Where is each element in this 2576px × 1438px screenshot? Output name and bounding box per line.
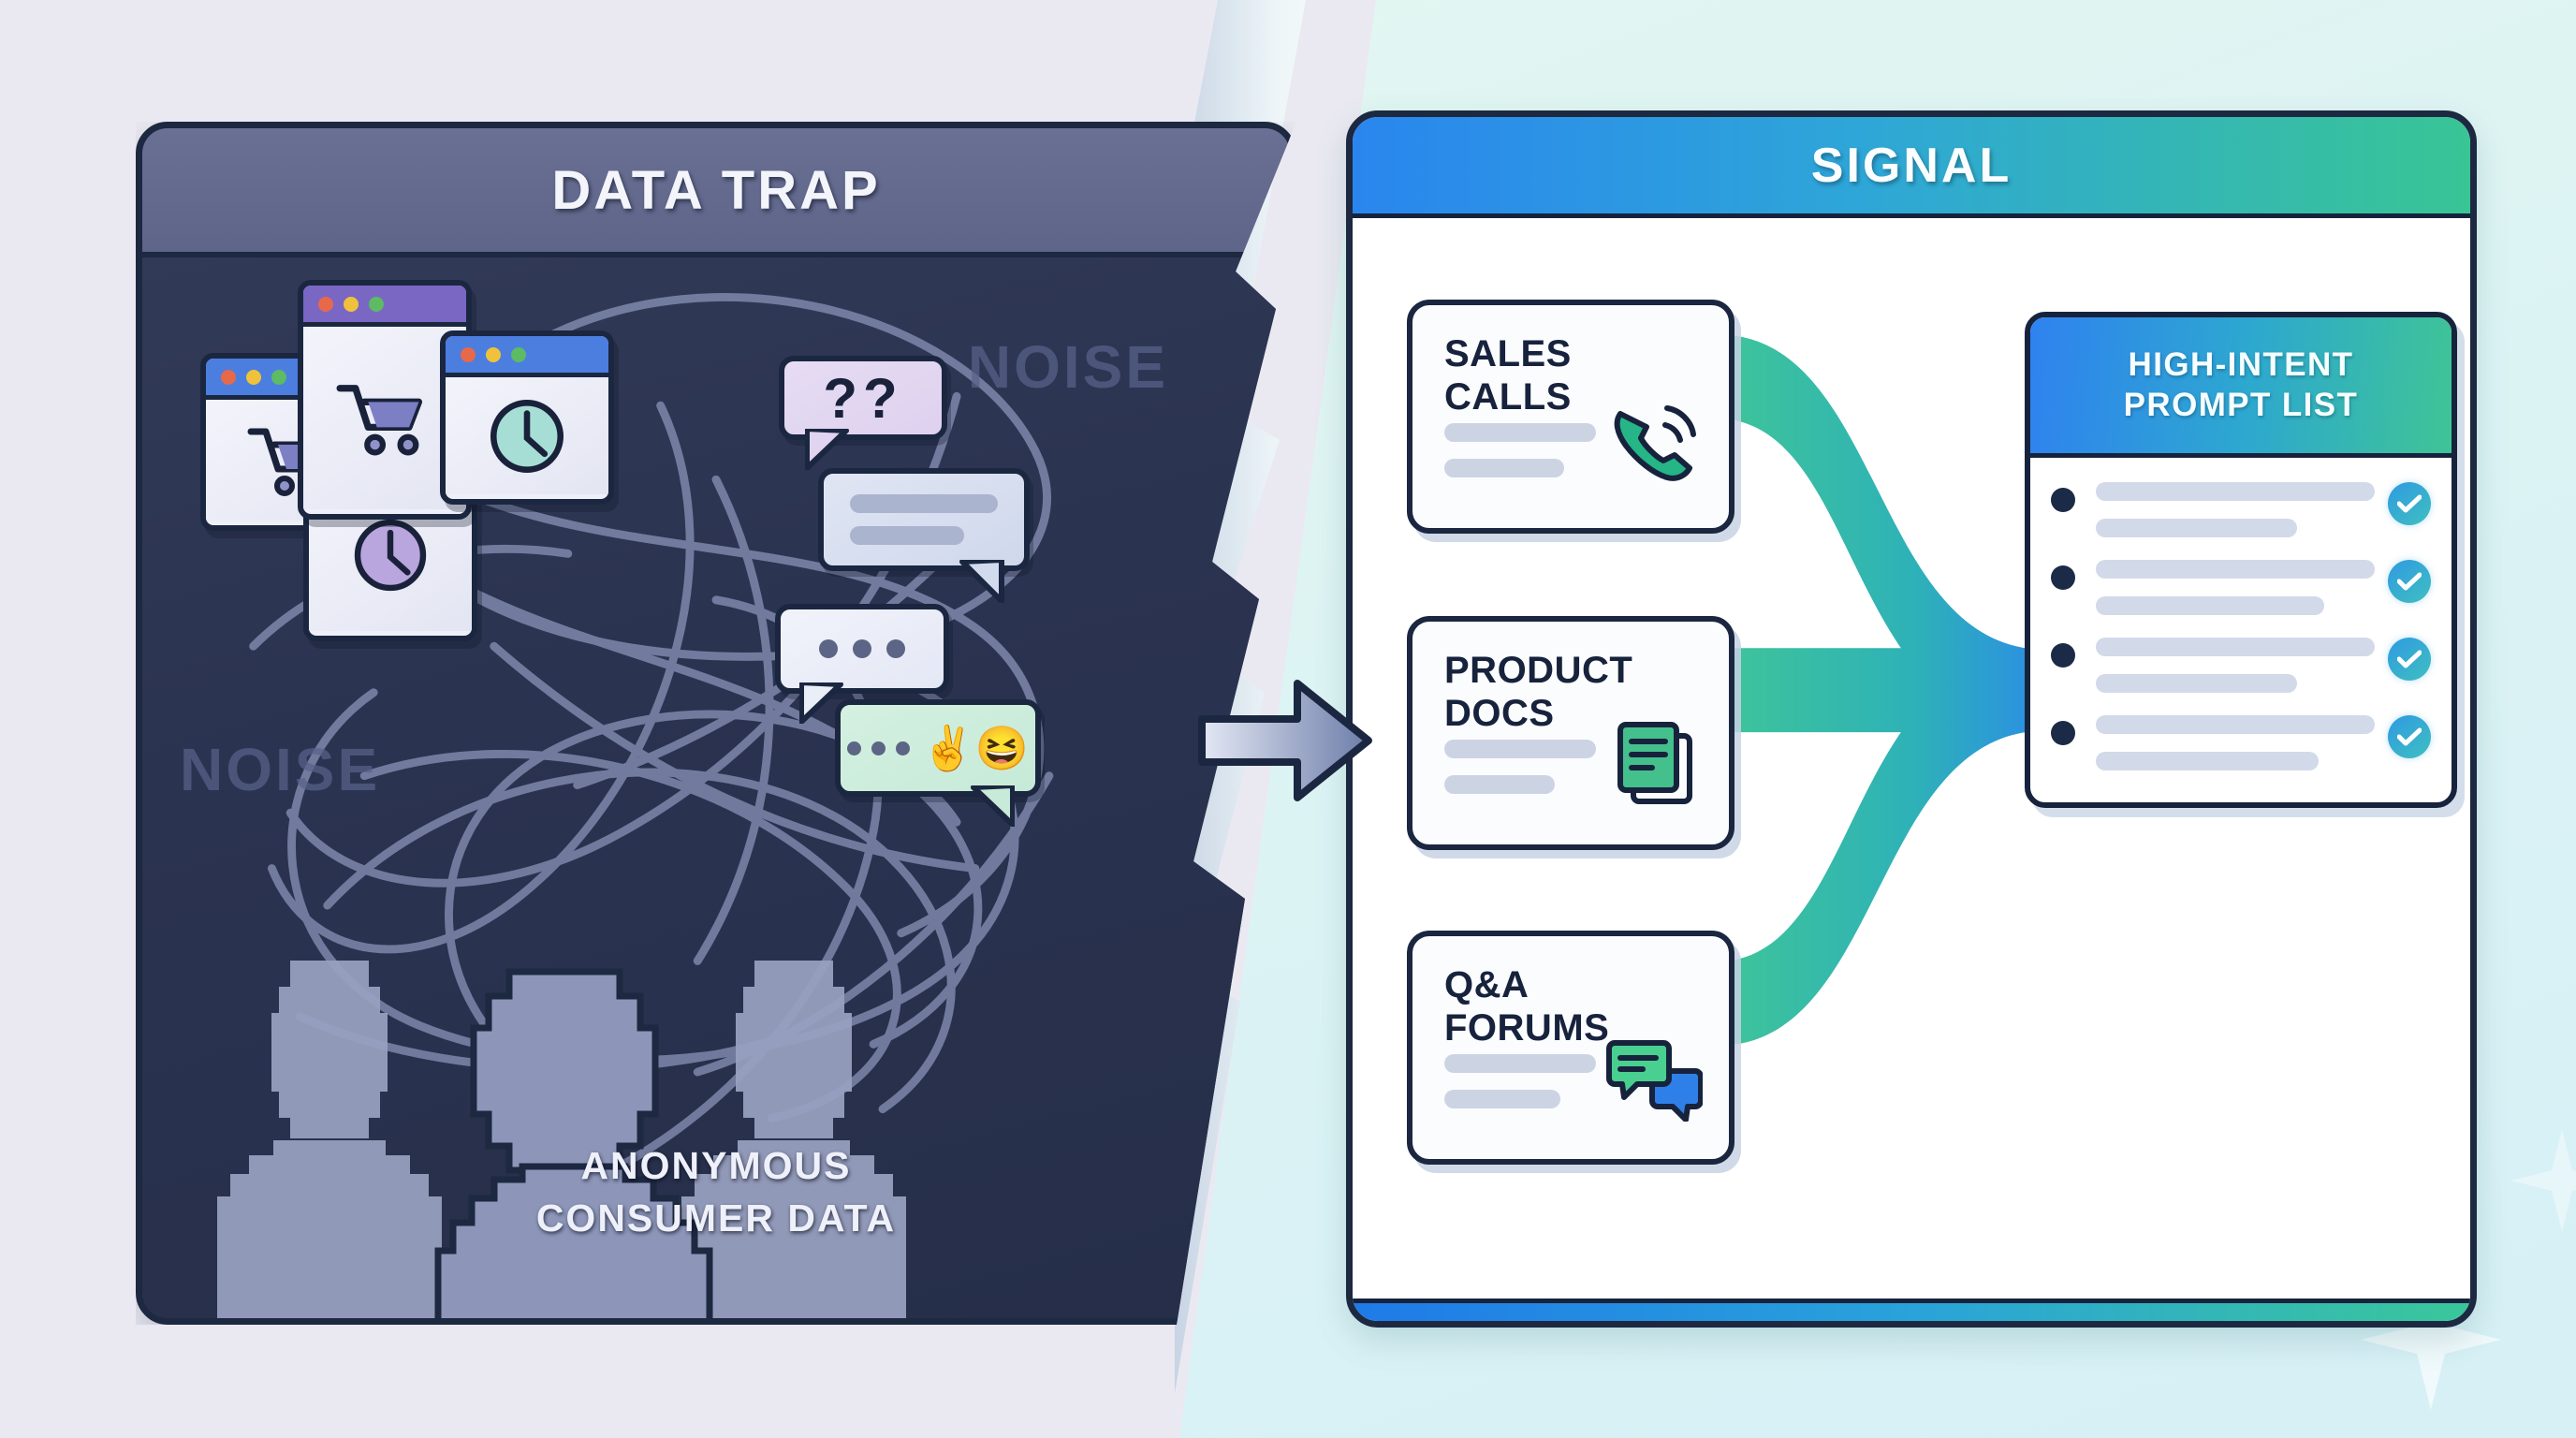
- maximize-dot-icon: [369, 297, 384, 312]
- clock-icon: [483, 392, 571, 480]
- minimize-dot-icon: [246, 370, 261, 385]
- signal-header: SIGNAL: [1353, 117, 2470, 218]
- bubble-question-text: ??: [823, 366, 902, 431]
- source-card-title: SALES CALLS: [1444, 333, 1572, 418]
- source-title-line-2: FORUMS: [1444, 1007, 1609, 1050]
- maximize-dot-icon: [271, 370, 286, 385]
- source-title-line-1: SALES: [1444, 333, 1572, 376]
- signal-panel: SIGNAL SALES CALL: [1346, 110, 2477, 1328]
- high-intent-prompt-list-panel[interactable]: HIGH-INTENT PROMPT LIST: [2025, 312, 2457, 808]
- source-card-title: PRODUCT DOCS: [1444, 650, 1632, 735]
- minimize-dot-icon: [344, 297, 359, 312]
- source-card-qa-forums[interactable]: Q&A FORUMS: [1407, 931, 1734, 1165]
- source-title-line-2: CALLS: [1444, 376, 1572, 419]
- check-circle-icon[interactable]: [2388, 715, 2431, 758]
- data-trap-header: DATA TRAP: [142, 128, 1290, 257]
- check-circle-icon[interactable]: [2388, 560, 2431, 603]
- phone-call-icon: [1605, 401, 1703, 491]
- source-title-line-1: PRODUCT: [1444, 650, 1632, 693]
- prompt-list-title-line-2: PROMPT LIST: [2124, 386, 2359, 426]
- prompt-row-lines: [2096, 482, 2375, 537]
- minimize-dot-icon: [486, 347, 501, 362]
- data-trap-body: NOISE NOISE: [142, 257, 1290, 1318]
- signal-body: SALES CALLS PRODUCT DOCS: [1353, 223, 2470, 1294]
- chat-bubble-emoji[interactable]: ✌️😆: [835, 699, 1041, 797]
- prompt-list-row[interactable]: [2051, 560, 2431, 615]
- prompt-list-title-line-1: HIGH-INTENT: [2129, 345, 2354, 386]
- caption-line-1: ANONYMOUS: [142, 1139, 1290, 1193]
- prompt-row-lines: [2096, 560, 2375, 615]
- anonymous-consumer-data-caption: ANONYMOUS CONSUMER DATA: [142, 1139, 1290, 1245]
- prompt-list-rows: [2030, 458, 2452, 770]
- browser-window-clock-blue[interactable]: [440, 330, 614, 505]
- maximize-dot-icon: [511, 347, 526, 362]
- prompt-list-row[interactable]: [2051, 638, 2431, 693]
- documents-icon: [1613, 721, 1703, 807]
- source-placeholder-lines: [1444, 1054, 1596, 1108]
- source-title-line-2: DOCS: [1444, 693, 1632, 736]
- close-dot-icon: [318, 297, 333, 312]
- chat-bubbles-icon: [1605, 1037, 1703, 1122]
- chat-bubble-question[interactable]: ??: [779, 356, 947, 440]
- prompt-list-row[interactable]: [2051, 715, 2431, 770]
- sparkle-icon: [2510, 1129, 2576, 1232]
- typing-dots-icon: [847, 741, 910, 756]
- chat-bubble-ellipsis[interactable]: [775, 604, 949, 694]
- bubble-tail-icon: [805, 429, 857, 470]
- source-card-title: Q&A FORUMS: [1444, 964, 1609, 1049]
- window-titlebar: [303, 286, 466, 327]
- clock-icon: [347, 512, 433, 598]
- data-trap-panel: DATA TRAP: [136, 122, 1296, 1325]
- bullet-icon: [2051, 643, 2075, 668]
- anonymous-figures-group: [180, 934, 947, 1325]
- prompt-list-header: HIGH-INTENT PROMPT LIST: [2030, 317, 2452, 458]
- shopping-cart-icon: [336, 379, 433, 458]
- bullet-icon: [2051, 488, 2075, 512]
- source-card-sales-calls[interactable]: SALES CALLS: [1407, 300, 1734, 534]
- prompt-row-lines: [2096, 638, 2375, 693]
- check-circle-icon[interactable]: [2388, 482, 2431, 525]
- check-circle-icon[interactable]: [2388, 638, 2431, 681]
- source-placeholder-lines: [1444, 740, 1596, 794]
- chat-bubble-lines[interactable]: [818, 468, 1030, 571]
- bullet-icon: [2051, 565, 2075, 590]
- source-card-product-docs[interactable]: PRODUCT DOCS: [1407, 616, 1734, 850]
- window-content: [446, 377, 608, 494]
- close-dot-icon: [221, 370, 236, 385]
- bubble-placeholder-lines: [850, 494, 998, 545]
- right-arrow-icon: [1196, 670, 1374, 811]
- prompt-row-lines: [2096, 715, 2375, 770]
- source-title-line-1: Q&A: [1444, 964, 1609, 1007]
- caption-line-2: CONSUMER DATA: [142, 1192, 1290, 1245]
- bubble-tail-icon: [962, 785, 1015, 827]
- data-trap-title: DATA TRAP: [551, 159, 880, 222]
- bubble-emoji-text: ✌️😆: [921, 723, 1029, 774]
- signal-title: SIGNAL: [1811, 138, 2012, 194]
- source-placeholder-lines: [1444, 423, 1596, 477]
- prompt-list-row[interactable]: [2051, 482, 2431, 537]
- typing-dots-icon: [819, 639, 905, 658]
- bubble-tail-icon: [951, 560, 1005, 603]
- window-titlebar: [446, 336, 608, 377]
- infographic-stage: DATA TRAP: [0, 0, 2576, 1438]
- bullet-icon: [2051, 721, 2075, 745]
- close-dot-icon: [461, 347, 476, 362]
